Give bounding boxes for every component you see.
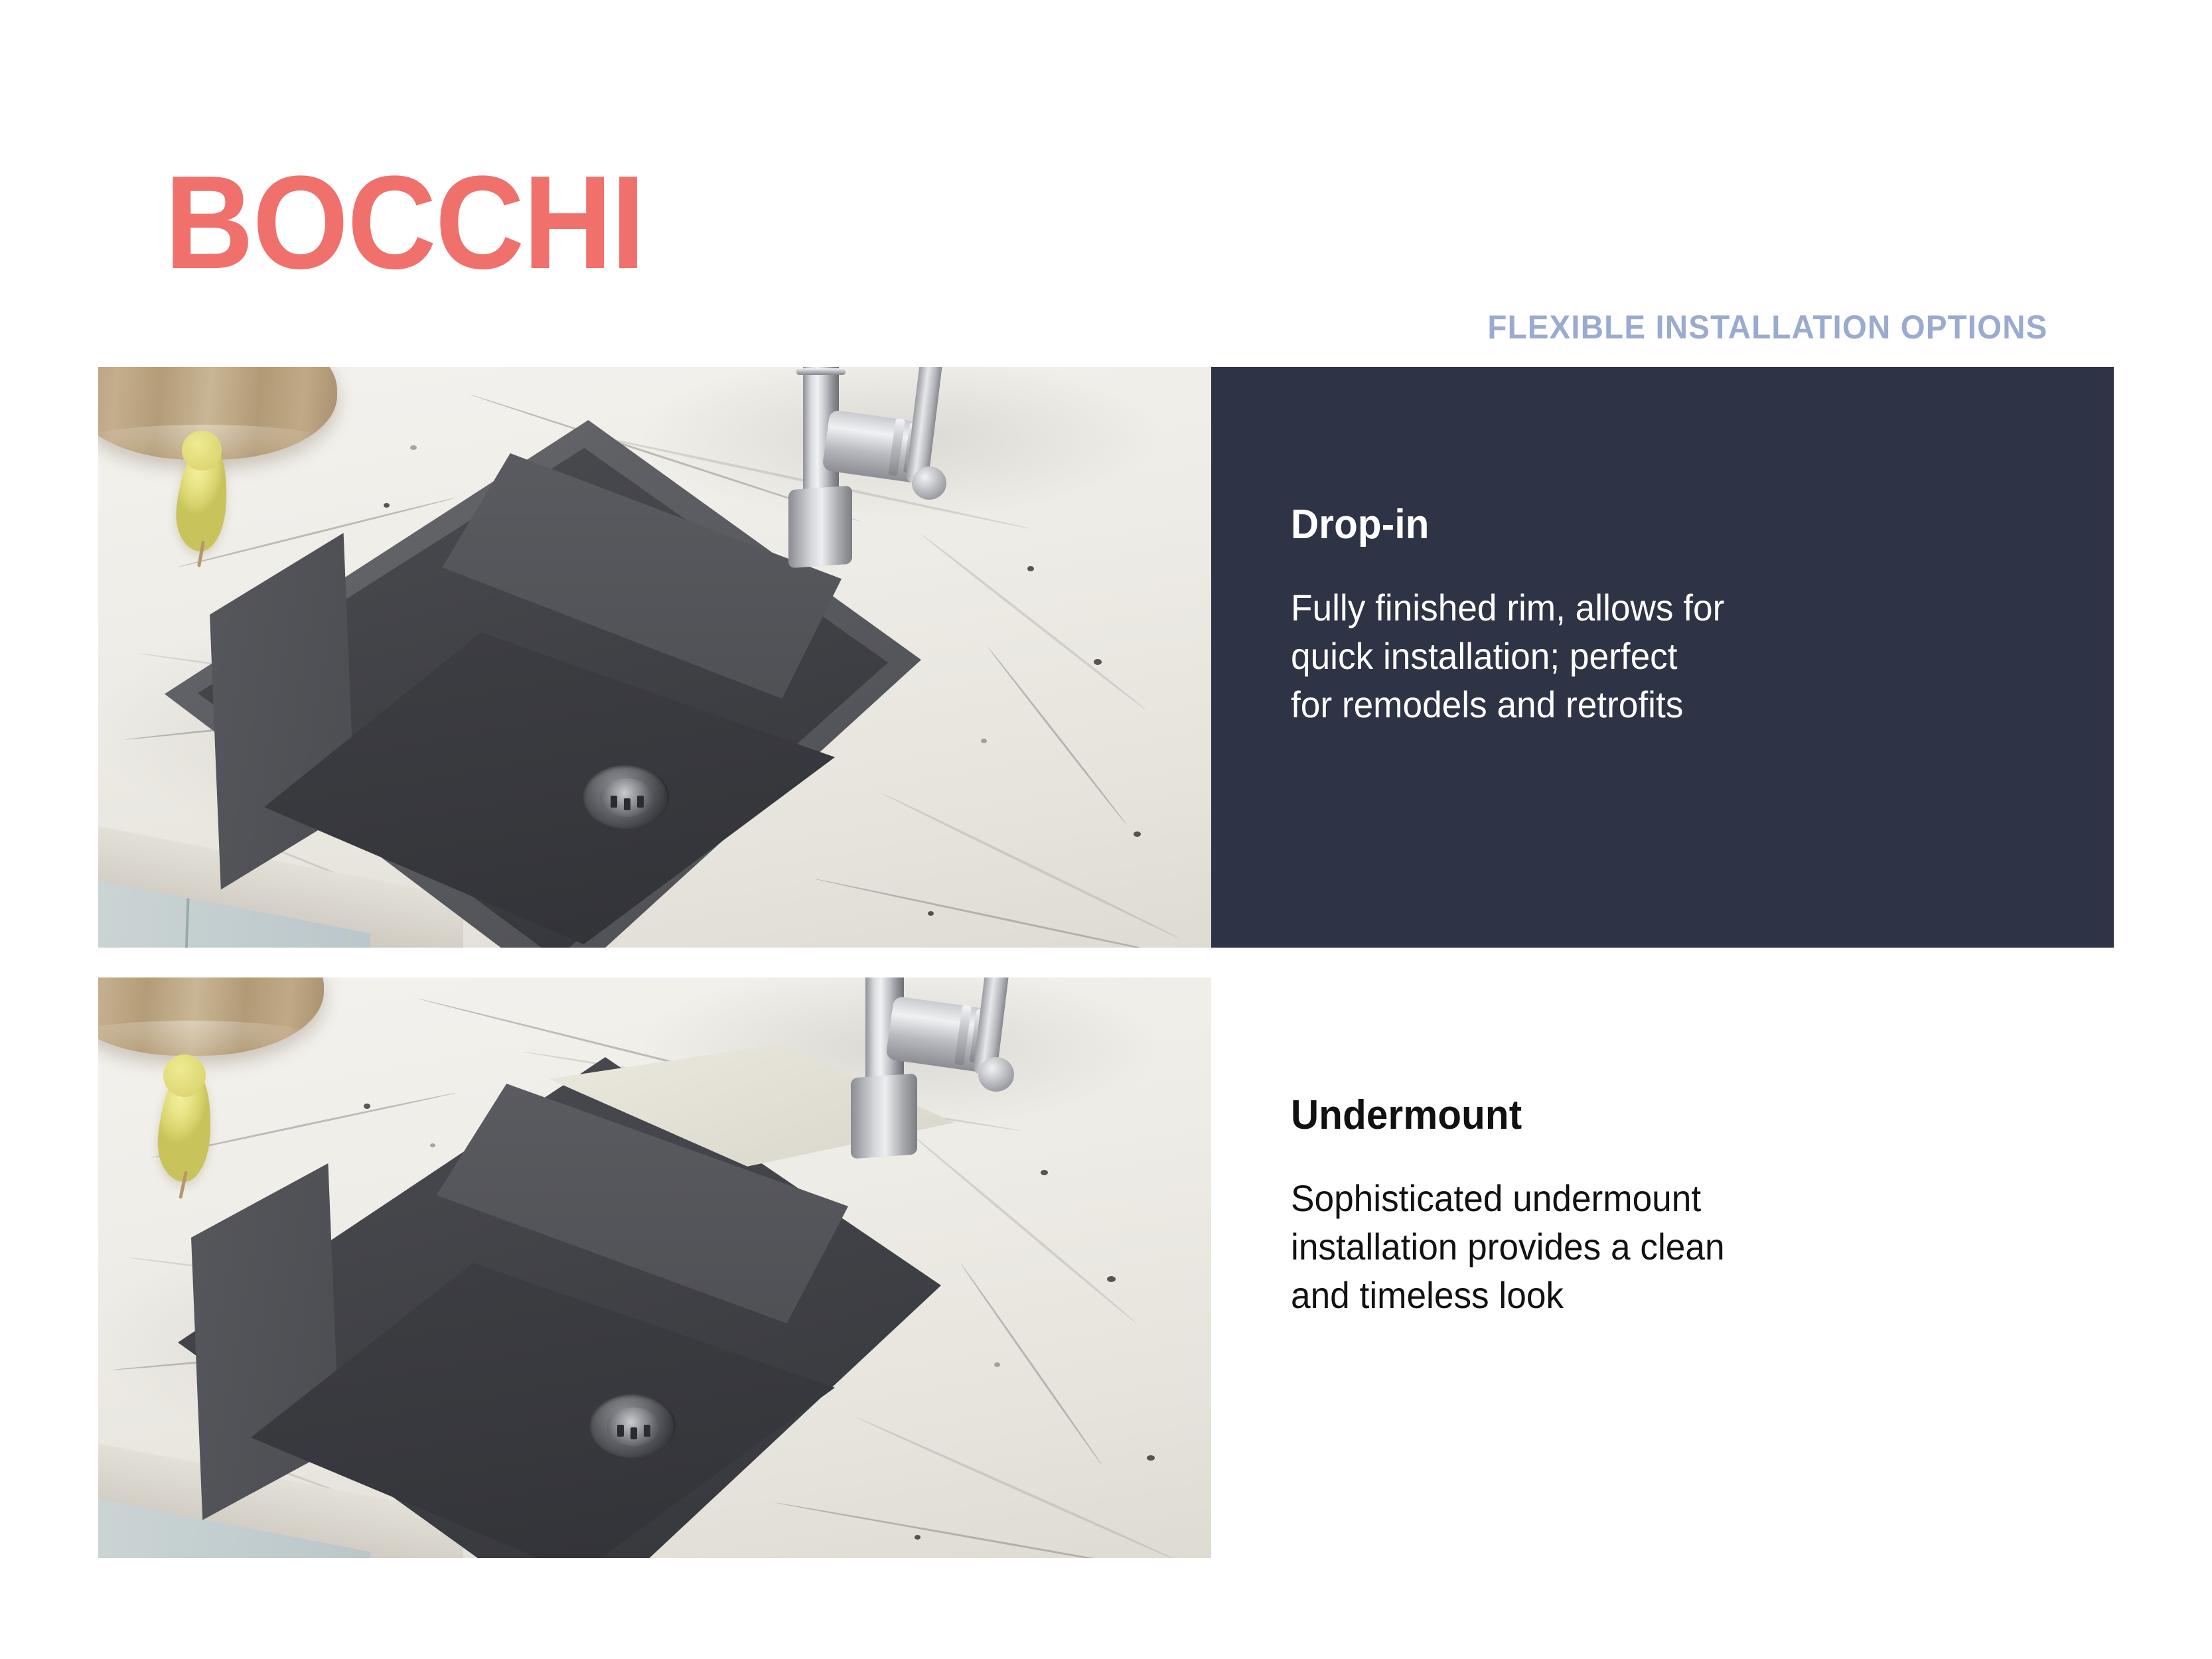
undermount-description-line: Sophisticated undermount	[1291, 1175, 1725, 1223]
marble-speck	[1041, 1170, 1048, 1175]
undermount-description-line: installation provides a clean	[1291, 1223, 1725, 1271]
drop-in-description: Fully finished rim, allows for quick ins…	[1291, 584, 1724, 729]
faucet-base	[851, 1074, 917, 1159]
undermount-description-line: and timeless look	[1291, 1271, 1725, 1320]
drop-in-text-block: Drop-in Fully finished rim, allows for q…	[1291, 504, 1747, 729]
faucet-handle-cap	[912, 467, 946, 500]
undermount-heading: Undermount	[1291, 1095, 1720, 1136]
marble-speck	[1027, 566, 1034, 571]
marble-speck	[928, 911, 934, 916]
drain-slot	[611, 796, 617, 808]
yellow-pear-top	[182, 431, 222, 470]
marble-speck	[1134, 831, 1141, 837]
sink-drain-strainer	[607, 1407, 660, 1446]
drop-in-description-line: for remodels and retrofits	[1291, 681, 1724, 729]
sink-drain-strainer	[600, 778, 653, 817]
marble-speck	[981, 739, 987, 743]
product-photo-undermount	[98, 977, 1211, 1558]
drain-slot	[624, 798, 630, 810]
drain-slot	[617, 1425, 624, 1437]
drain-slot	[630, 1427, 637, 1439]
marble-speck	[1107, 1276, 1116, 1282]
undermount-description: Sophisticated undermount installation pr…	[1291, 1175, 1725, 1319]
undermount-text-block: Undermount Sophisticated undermount inst…	[1291, 1095, 1747, 1319]
marble-speck	[1147, 1455, 1155, 1461]
drop-in-description-line: Fully finished rim, allows for	[1291, 584, 1724, 632]
marble-speck	[994, 1362, 1000, 1367]
product-photo-drop-in	[98, 367, 1211, 948]
section-eyebrow-heading: FLEXIBLE INSTALLATION OPTIONS	[1487, 311, 2047, 344]
brand-logo: BOCCHI	[165, 157, 644, 289]
marble-speck	[915, 1535, 921, 1540]
marble-speck	[430, 1143, 435, 1147]
yellow-pear-top	[163, 1054, 206, 1097]
faucet-handle-cap	[978, 1057, 1014, 1092]
wooden-bowl	[98, 977, 324, 1056]
faucet-ring	[796, 368, 846, 375]
marble-speck	[1094, 659, 1102, 665]
drain-slot	[637, 796, 644, 808]
faucet-base	[788, 486, 852, 569]
drop-in-description-line: quick installation; perfect	[1291, 632, 1724, 681]
drop-in-heading: Drop-in	[1291, 504, 1720, 545]
drain-slot	[644, 1425, 650, 1437]
marble-speck	[364, 1104, 370, 1109]
marble-speck	[410, 445, 417, 450]
marble-speck	[384, 503, 390, 508]
